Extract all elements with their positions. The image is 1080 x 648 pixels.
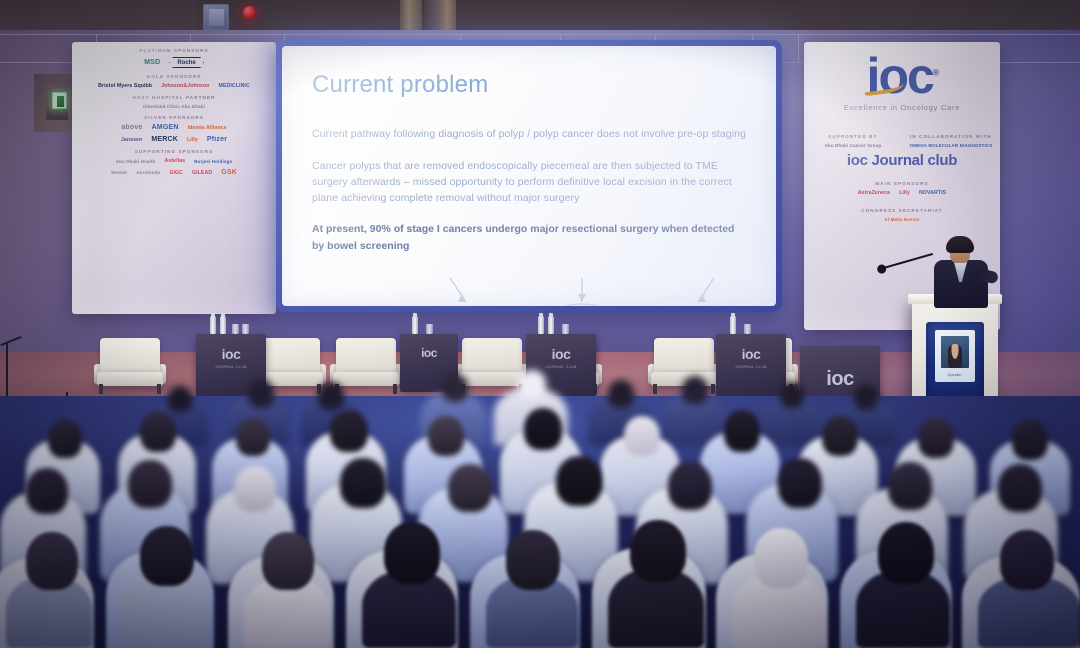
projection-screen: Current problem Current pathway followin…	[282, 46, 776, 306]
logo-aurobindo: Aurobindo	[136, 170, 160, 175]
logo-lilly: Lilly	[899, 190, 910, 196]
logo-row-supporting-2: Servier Aurobindo GIGC GILEAD GSK	[72, 169, 276, 176]
eioc-logo-text: ioc	[867, 48, 933, 104]
logo-gigc: GIGC	[169, 170, 183, 176]
side-table-logo-3: ioc	[526, 346, 596, 362]
slide-title: Current problem	[312, 72, 748, 98]
banner-right-sections: SUPPORTED BY Abu Dhabi Cancer Group IN C…	[804, 128, 1000, 148]
eioc-journal-club-title: ioc Journal club	[804, 152, 1000, 169]
logo-abu-dhabi-cancer-group: Abu Dhabi Cancer Group	[825, 143, 882, 148]
logo-roche: Roche	[169, 57, 203, 68]
logo-idemia-alliance: Idemia Alliance	[188, 125, 227, 131]
logo-astrazeneca: AstraZeneca	[858, 190, 890, 196]
logo-pfizer: Pfizer	[207, 136, 227, 143]
eioc-registered-mark: ®	[933, 67, 938, 77]
tier-heading-host-hospital: HOST HOSPITAL PARTNER	[72, 95, 276, 100]
side-table-sub-3: JOURNAL CLUB	[526, 365, 596, 369]
logo-row-secretariat: Al Maha Events	[804, 217, 1000, 222]
slide-paragraph-3-emphasis: At present, 90% of stage I cancers under…	[312, 221, 748, 254]
heading-in-collaboration-with: IN COLLABORATION WITH	[902, 134, 1000, 139]
side-table-logo-4: ioc	[716, 346, 786, 362]
heading-supported-by: SUPPORTED BY	[804, 134, 902, 139]
logo-above: above	[121, 124, 142, 131]
red-indicator-light-icon	[243, 6, 256, 19]
logo-row-collaboration: OMEGA MOLECULAR DIAGNOSTICS	[902, 143, 1000, 148]
heading-congress-secretariat: CONGRESS SECRETARIAT	[804, 208, 1000, 213]
side-table-logo-1: ioc	[196, 346, 266, 362]
ceiling-speaker-icon	[203, 4, 229, 30]
slide-paragraph-2: Cancer polyps that are removed endoscopi…	[312, 158, 748, 207]
speaker-portrait-photo	[941, 336, 969, 368]
exit-sign-icon	[52, 92, 67, 109]
logo-row-platinum: MSD Roche	[72, 57, 276, 68]
conference-photo: PLATINUM SPONSORS MSD Roche GOLD SPONSOR…	[0, 0, 1080, 648]
logo-amgen: AMGEN	[152, 124, 179, 131]
logo-servier: Servier	[111, 170, 127, 175]
tier-heading-supporting: SUPPORTING SPONSORS	[72, 149, 276, 154]
logo-row-silver-1: above AMGEN Idemia Alliance	[72, 124, 276, 131]
podium-display-screen: Speaker	[926, 322, 984, 400]
logo-row-silver-2: Janssen MERCK Lilly Pfizer	[72, 136, 276, 143]
logo-novartis: NOVARTIS	[919, 190, 946, 196]
eioc-wordmark-icon: ioc®	[867, 56, 938, 96]
logo-row-main-sponsors: AstraZeneca Lilly NOVARTIS	[804, 190, 1000, 196]
logo-row-gold: Bristol Myers Squibb Johnson&Johnson MED…	[72, 83, 276, 89]
stage-side-table-4: ioc JOURNAL CLUB	[716, 334, 786, 398]
heading-main-sponsors: MAIN SPONSORS	[804, 181, 1000, 186]
presenter-speaker	[928, 236, 994, 308]
tier-heading-silver: SILVER SPONSORS	[72, 115, 276, 120]
logo-cleveland-clinic: Cleveland Clinic Abu Dhabi	[143, 104, 205, 109]
logo-gilead: GILEAD	[192, 170, 212, 176]
logo-burjeel-holdings: Burjeel Holdings	[194, 159, 232, 164]
slide-body: Current pathway following diagnosis of p…	[312, 126, 748, 254]
sponsor-banner-left: PLATINUM SPONSORS MSD Roche GOLD SPONSOR…	[72, 42, 276, 314]
eioc-logo-block: ioc® Excellence in Oncology Care	[804, 56, 1000, 112]
eioc-tagline: Excellence in Oncology Care	[804, 103, 1000, 112]
side-table-logo-2: ioc	[400, 346, 458, 360]
speaker-id-card: Speaker	[935, 330, 975, 382]
tier-heading-gold: GOLD SPONSORS	[72, 74, 276, 79]
presentation-slide: Current problem Current pathway followin…	[282, 46, 776, 306]
logo-gsk: GSK	[221, 169, 237, 176]
logo-lilly-silver: Lilly	[187, 137, 198, 143]
projection-screen-frame: Current problem Current pathway followin…	[276, 40, 782, 312]
logo-msd: MSD	[144, 59, 160, 66]
side-table-sub-1: JOURNAL CLUB	[196, 365, 266, 369]
side-table-sub-4: JOURNAL CLUB	[716, 365, 786, 369]
logo-janssen: Janssen	[121, 137, 142, 143]
logo-row-supported-by: Abu Dhabi Cancer Group	[804, 143, 902, 148]
logo-omega-molecular: OMEGA MOLECULAR DIAGNOSTICS	[910, 143, 993, 148]
logo-mediclinic: MEDICLINIC	[219, 83, 250, 89]
speaker-hair	[946, 236, 974, 253]
slide-paragraph-1: Current pathway following diagnosis of p…	[312, 126, 748, 142]
logo-abu-dhabi-health: Abu Dhabi Health	[116, 159, 156, 164]
logo-johnson-and-johnson: Johnson&Johnson	[161, 83, 209, 89]
logo-bristol-myers-squibb: Bristol Myers Squibb	[98, 83, 152, 89]
logo-row-supporting-1: Abu Dhabi Health Astellas Burjeel Holdin…	[72, 158, 276, 164]
speaker-card-name: Speaker	[935, 373, 975, 377]
logo-merck: MERCK	[151, 136, 178, 143]
tier-heading-platinum: PLATINUM SPONSORS	[72, 48, 276, 53]
logo-al-maha-events: Al Maha Events	[884, 217, 919, 222]
logo-row-host-hospital: Cleveland Clinic Abu Dhabi	[72, 104, 276, 109]
logo-astellas: Astellas	[165, 158, 186, 164]
slide-diagram-arrows	[432, 276, 732, 306]
stage-chair-1[interactable]	[94, 338, 166, 396]
